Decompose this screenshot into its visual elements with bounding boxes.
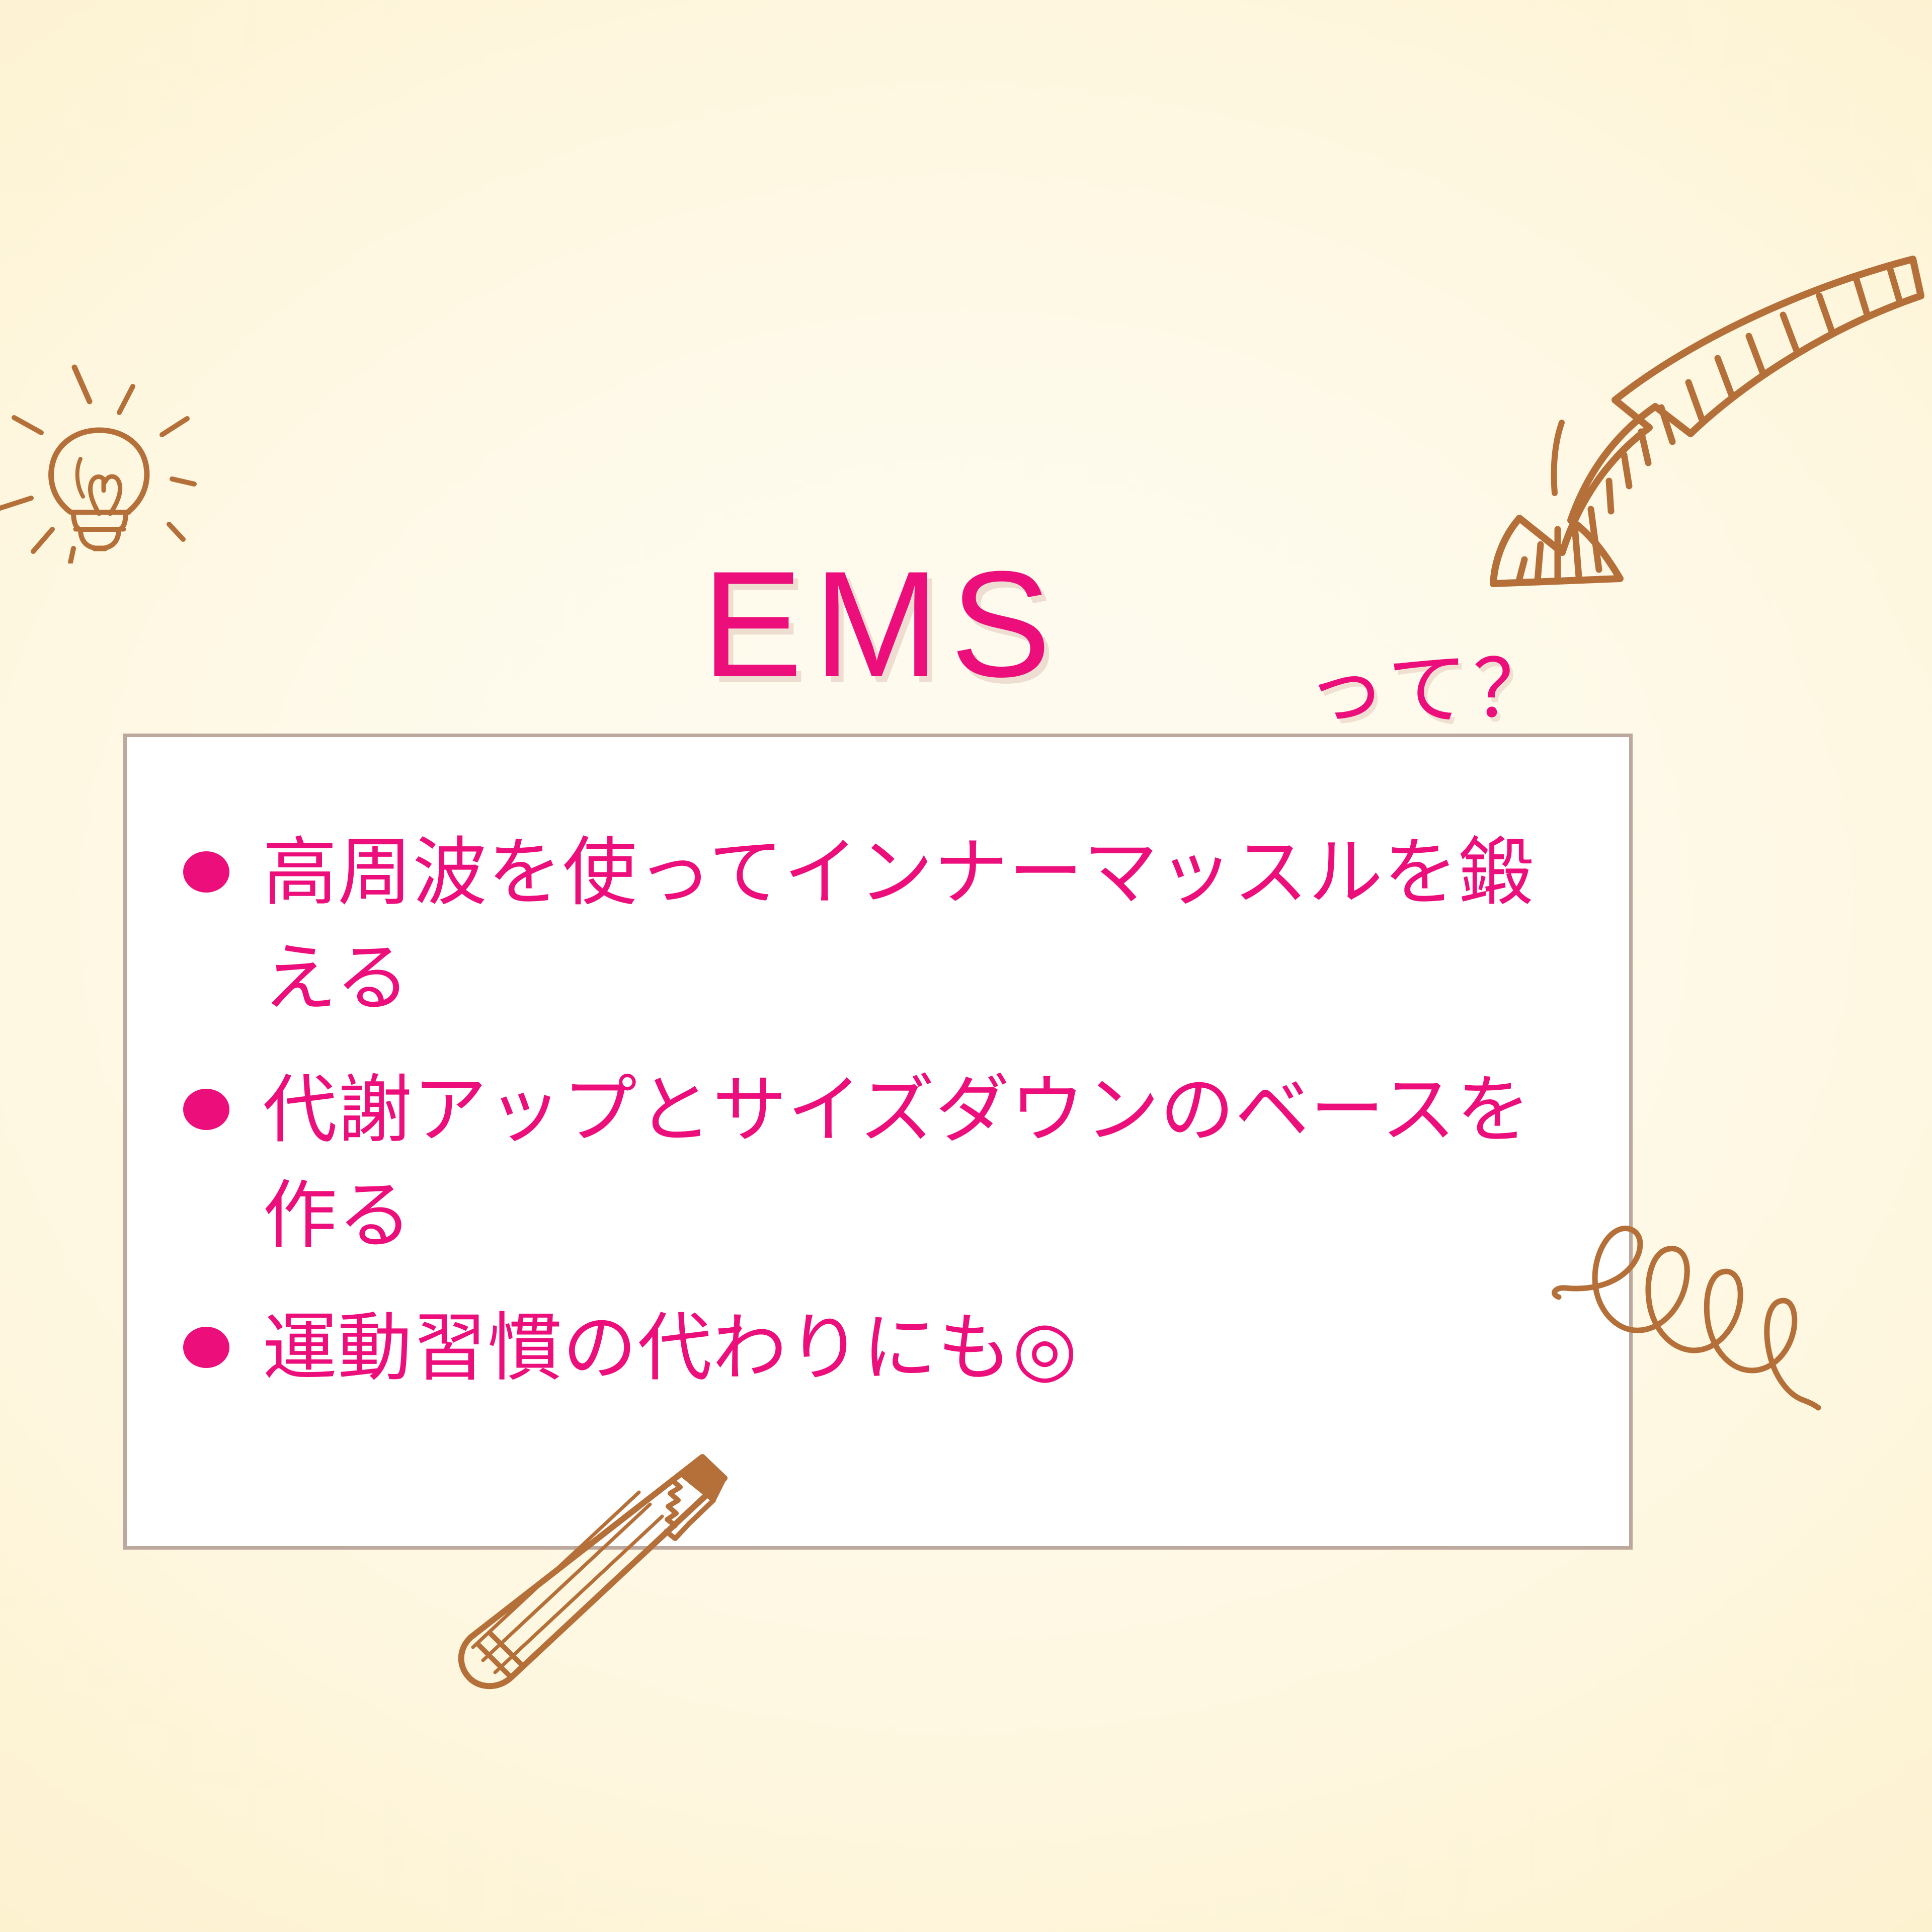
lightbulb-icon (0, 347, 216, 563)
page-title: EMS (702, 548, 1062, 699)
list-item-label: 高周波を使ってインナーマッスルを鍛える (263, 831, 1534, 1020)
title-row: EMS って？ (0, 548, 1932, 730)
bullet-list: 高周波を使ってインナーマッスルを鍛える 代謝アップとサイズダウンのベースを作る … (177, 820, 1601, 1401)
curved-arrow-icon (1454, 231, 1927, 604)
bullet-dot-icon (183, 1089, 229, 1130)
list-item: 高周波を使ってインナーマッスルを鍛える (177, 820, 1601, 1031)
title-suffix: って？ (1306, 649, 1558, 730)
poster-canvas: EMS って？ 高周波を使ってインナーマッスルを鍛える 代謝アップとサイズダウン… (0, 0, 1932, 1932)
list-item: 運動習慣の代わりにも◎ (177, 1296, 1601, 1401)
list-item-label: 代謝アップとサイズダウンのベースを作る (263, 1069, 1531, 1257)
list-item: 代謝アップとサイズダウンのベースを作る (177, 1058, 1601, 1269)
content-box: 高周波を使ってインナーマッスルを鍛える 代謝アップとサイズダウンのベースを作る … (123, 734, 1633, 1550)
bullet-dot-icon (183, 851, 229, 893)
bullet-dot-icon (183, 1327, 229, 1368)
list-item-label: 運動習慣の代わりにも◎ (263, 1307, 1078, 1390)
